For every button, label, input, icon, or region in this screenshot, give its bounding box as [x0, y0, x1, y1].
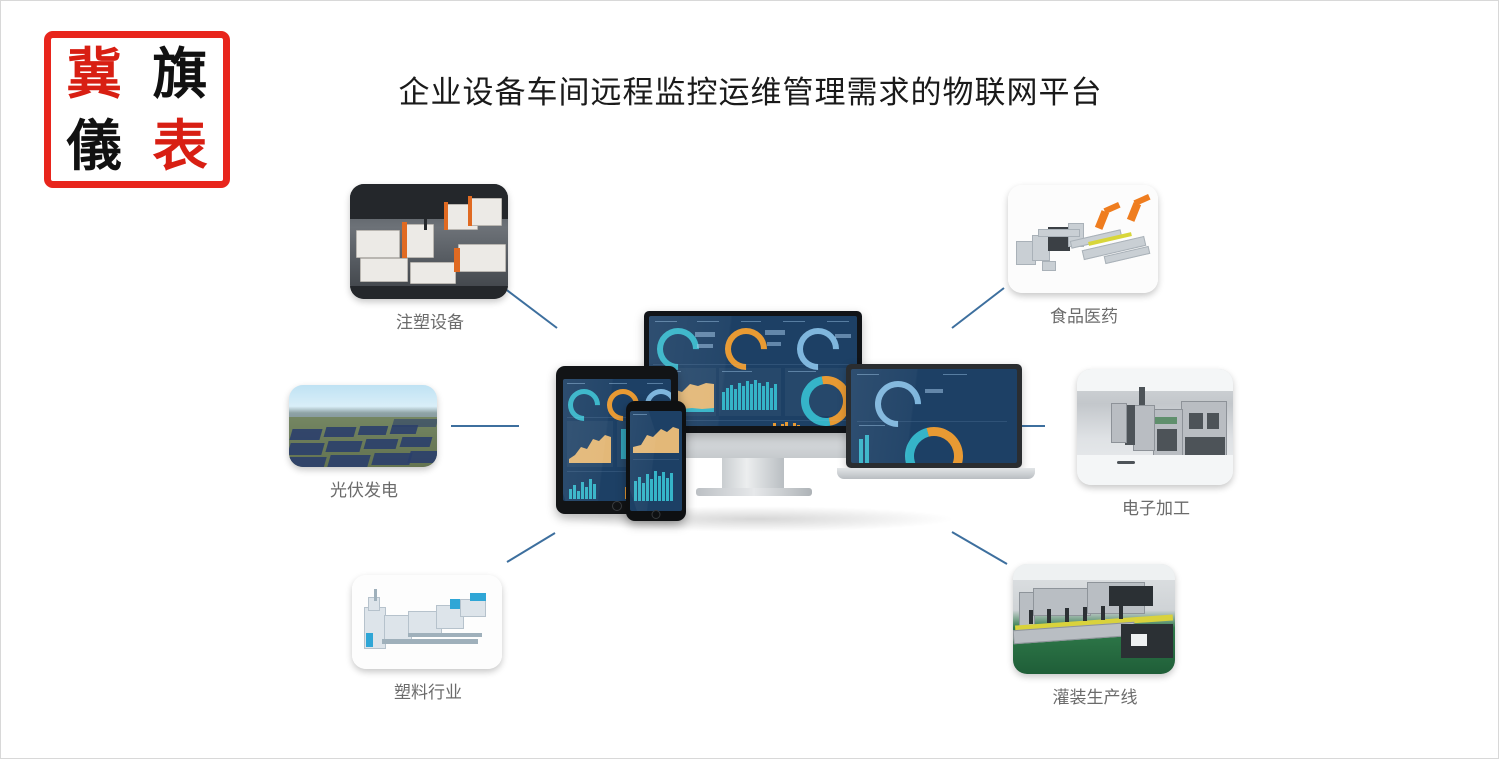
laptop-lid — [846, 364, 1022, 468]
laptop[interactable] — [846, 364, 1026, 474]
plastics-thumbnail — [352, 575, 502, 669]
electronics-label: 电子加工 — [1077, 494, 1235, 519]
smartphone[interactable] — [626, 401, 686, 521]
laptop-dashboard — [851, 369, 1017, 463]
node-electronics[interactable]: 电子加工 — [1077, 369, 1235, 519]
node-photovoltaic[interactable]: 光伏发电 — [289, 385, 439, 501]
food-pharma-photo — [1008, 185, 1158, 293]
plastics-photo — [352, 575, 502, 669]
phone-dashboard — [630, 411, 682, 511]
laptop-base — [837, 468, 1035, 479]
electronics-photo — [1077, 369, 1233, 485]
photovoltaic-photo — [289, 385, 437, 467]
node-food-pharma[interactable]: 食品医药 — [1008, 185, 1160, 327]
injection-molding-thumbnail — [350, 184, 508, 299]
electronics-thumbnail — [1077, 369, 1233, 485]
monitor-stand — [722, 458, 784, 488]
link-plastics — [507, 533, 555, 562]
photovoltaic-thumbnail — [289, 385, 437, 467]
phone-home-button[interactable] — [652, 510, 661, 519]
node-plastics[interactable]: 塑料行业 — [352, 575, 504, 703]
device-cluster — [546, 306, 966, 521]
food-pharma-thumbnail — [1008, 185, 1158, 293]
node-injection-molding[interactable]: 注塑设备 — [350, 184, 510, 333]
link-filling-line — [952, 532, 1007, 564]
plastics-label: 塑料行业 — [352, 678, 504, 703]
monitor-base — [696, 488, 812, 496]
node-filling-line[interactable]: 灌装生产线 — [1013, 564, 1177, 708]
injection-molding-photo — [350, 184, 508, 299]
injection-molding-label: 注塑设备 — [350, 308, 510, 333]
bar-chart-teal — [722, 378, 777, 410]
photovoltaic-label: 光伏发电 — [289, 476, 439, 501]
filling-line-thumbnail — [1013, 564, 1175, 674]
filling-line-label: 灌装生产线 — [1013, 683, 1177, 708]
tablet-home-button[interactable] — [612, 501, 622, 511]
filling-line-photo — [1013, 564, 1175, 674]
food-pharma-label: 食品医药 — [1008, 302, 1160, 327]
